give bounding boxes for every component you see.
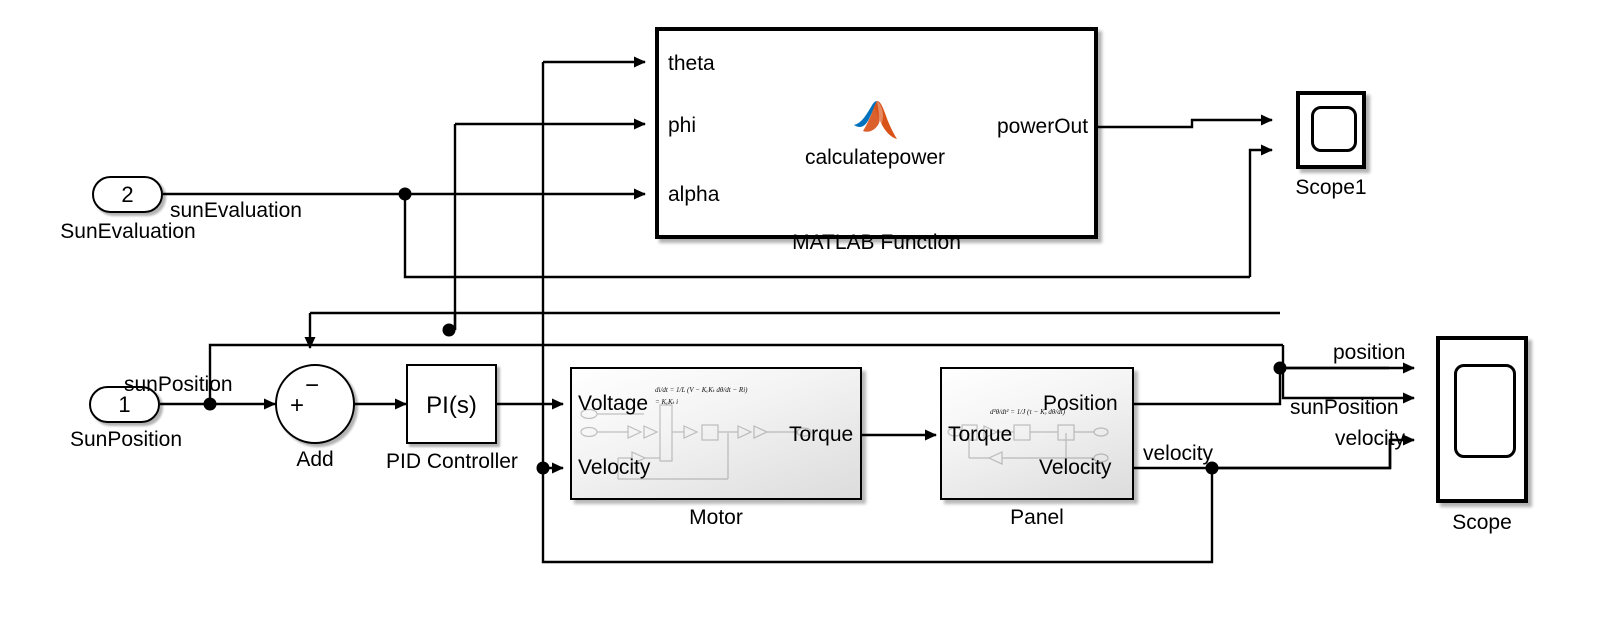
scope-screen-icon <box>1454 364 1516 458</box>
matlab-membrane-icon <box>852 99 898 143</box>
scope1-block[interactable] <box>1296 91 1366 169</box>
matlab-function-block-label: MATLAB Function <box>655 231 1098 255</box>
signal-label-sun-evaluation: sunEvaluation <box>170 200 302 221</box>
motor-block-label: Motor <box>570 506 862 530</box>
signal-label-position: position <box>1333 342 1405 363</box>
signal-label-sun-position-scope: sunPosition <box>1290 397 1399 418</box>
motor-input-voltage: Voltage <box>578 392 648 416</box>
matlab-function-name: calculatepower <box>800 146 950 170</box>
motor-equation-line1: di/dt = 1/L (V − KₑKₜ dθ/dt − Ri) <box>655 386 747 394</box>
motor-input-velocity: Velocity <box>578 456 650 480</box>
scope1-screen-icon <box>1311 106 1357 152</box>
pid-controller-label: PID Controller <box>376 450 528 474</box>
panel-input-torque: Torque <box>948 423 1012 447</box>
matlab-function-output-powerout: powerOut <box>997 115 1088 139</box>
signal-label-velocity-panel: velocity <box>1143 443 1213 464</box>
scope-label: Scope <box>1436 511 1528 535</box>
motor-output-torque: Torque <box>789 423 853 447</box>
panel-equation-line1: d²θ/dt² = 1/J (τ − Kₔ dθ/dt) <box>990 408 1065 416</box>
inport-sun-evaluation-label: SunEvaluation <box>22 220 234 244</box>
add-plus-sign: + <box>290 392 304 420</box>
motor-equation-line2: = KₑKₜ i <box>655 398 678 406</box>
matlab-function-input-alpha: alpha <box>668 183 719 207</box>
pid-controller-transfer-text: PI(s) <box>406 392 497 420</box>
signal-label-sun-position: sunPosition <box>124 374 233 395</box>
panel-output-velocity: Velocity <box>1039 456 1111 480</box>
scope1-label: Scope1 <box>1276 176 1386 200</box>
signal-label-velocity-scope: velocity <box>1335 428 1405 449</box>
panel-block-label: Panel <box>940 506 1134 530</box>
inport-sun-evaluation[interactable]: 2 <box>92 176 163 213</box>
matlab-function-input-phi: phi <box>668 114 696 138</box>
simulink-canvas: 2 SunEvaluation sunEvaluation 1 SunPosit… <box>0 0 1606 617</box>
matlab-function-input-theta: theta <box>668 52 715 76</box>
scope-block[interactable] <box>1436 336 1528 503</box>
inport-sun-evaluation-number: 2 <box>121 182 133 208</box>
inport-sun-position-label: SunPosition <box>20 428 232 452</box>
add-block-label: Add <box>265 448 365 472</box>
add-minus-sign: − <box>305 372 319 400</box>
